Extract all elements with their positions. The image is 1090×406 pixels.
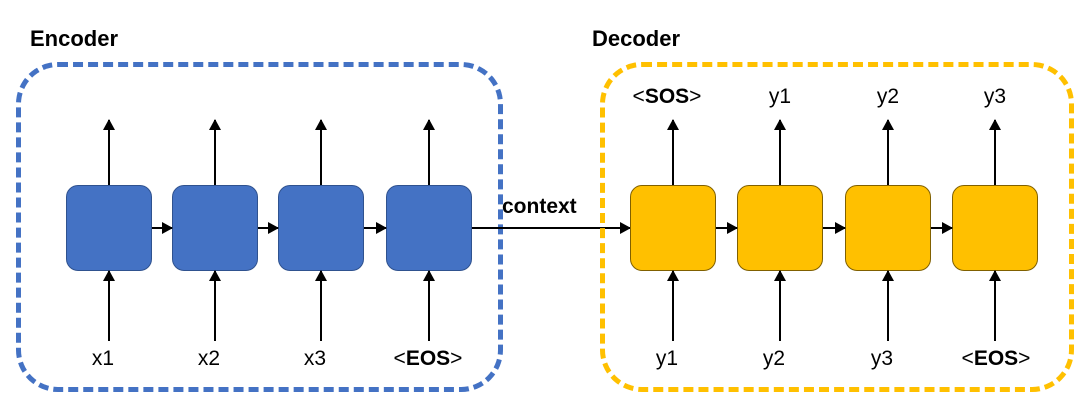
decoder-output-label-4: y3 xyxy=(984,86,1006,107)
decoder-input-label-3: y3 xyxy=(871,348,893,369)
decoder-output-arrow-1 xyxy=(667,120,679,185)
arrow-head-up-icon xyxy=(209,270,221,281)
arrow-shaft xyxy=(108,271,110,341)
arrow-head-right-icon xyxy=(268,222,279,234)
encoder-input-label-4: <EOS> xyxy=(394,348,463,369)
arrow-head-up-icon xyxy=(989,270,1001,281)
decoder-title: Decoder xyxy=(592,28,680,50)
arrow-head-right-icon xyxy=(727,222,738,234)
arrow-head-up-icon xyxy=(209,119,221,130)
encoder-input-arrow-4 xyxy=(423,271,435,341)
arrow-head-up-icon xyxy=(882,119,894,130)
arrow-shaft xyxy=(672,271,674,341)
arrow-head-up-icon xyxy=(989,119,1001,130)
encoder-recurrent-arrow-2-3 xyxy=(258,222,278,234)
arrow-head-up-icon xyxy=(315,270,327,281)
encoder-output-arrow-1 xyxy=(103,120,115,185)
arrow-head-up-icon xyxy=(423,270,435,281)
encoder-input-arrow-3 xyxy=(315,271,327,341)
decoder-cell-4[interactable] xyxy=(952,185,1038,271)
arrow-head-up-icon xyxy=(423,119,435,130)
decoder-cell-1[interactable] xyxy=(630,185,716,271)
encoder-recurrent-arrow-3-4 xyxy=(364,222,386,234)
encoder-input-label-2: x2 xyxy=(198,348,220,369)
decoder-output-label-1: <SOS> xyxy=(633,86,702,107)
arrow-head-up-icon xyxy=(103,270,115,281)
encoder-input-arrow-2 xyxy=(209,271,221,341)
decoder-output-label-2: y1 xyxy=(769,86,791,107)
arrow-head-up-icon xyxy=(315,119,327,130)
arrow-head-up-icon xyxy=(667,119,679,130)
arrow-shaft xyxy=(994,271,996,341)
arrow-head-up-icon xyxy=(774,270,786,281)
arrow-shaft xyxy=(320,271,322,341)
arrow-shaft xyxy=(887,271,889,341)
decoder-recurrent-arrow-3-4 xyxy=(931,222,952,234)
encoder-recurrent-arrow-1-2 xyxy=(152,222,172,234)
encoder-cell-1[interactable] xyxy=(66,185,152,271)
arrow-head-right-icon xyxy=(942,222,953,234)
context-label: context xyxy=(502,196,577,217)
arrow-shaft xyxy=(428,271,430,341)
encoder-output-arrow-4 xyxy=(423,120,435,185)
arrow-head-right-icon xyxy=(162,222,173,234)
decoder-cell-2[interactable] xyxy=(737,185,823,271)
arrow-head-right-icon xyxy=(835,222,846,234)
encoder-title: Encoder xyxy=(30,28,118,50)
encoder-output-arrow-2 xyxy=(209,120,221,185)
decoder-recurrent-arrow-1-2 xyxy=(716,222,737,234)
arrow-head-up-icon xyxy=(103,119,115,130)
arrow-head-up-icon xyxy=(882,270,894,281)
decoder-output-arrow-2 xyxy=(774,120,786,185)
arrow-head-up-icon xyxy=(774,119,786,130)
encoder-cell-3[interactable] xyxy=(278,185,364,271)
decoder-output-arrow-3 xyxy=(882,120,894,185)
decoder-output-label-3: y2 xyxy=(877,86,899,107)
encoder-cell-4[interactable] xyxy=(386,185,472,271)
encoder-input-label-1: x1 xyxy=(92,348,114,369)
encoder-output-arrow-3 xyxy=(315,120,327,185)
decoder-input-arrow-1 xyxy=(667,271,679,341)
arrow-shaft xyxy=(779,271,781,341)
encoder-input-label-3: x3 xyxy=(304,348,326,369)
decoder-input-arrow-3 xyxy=(882,271,894,341)
diagram-canvas: Encoder xyxy=(0,0,1090,406)
decoder-input-label-4: <EOS> xyxy=(962,348,1031,369)
decoder-recurrent-arrow-2-3 xyxy=(823,222,845,234)
arrow-head-up-icon xyxy=(667,270,679,281)
encoder-cell-2[interactable] xyxy=(172,185,258,271)
decoder-input-arrow-2 xyxy=(774,271,786,341)
arrow-head-right-icon xyxy=(376,222,387,234)
decoder-input-label-2: y2 xyxy=(763,348,785,369)
decoder-input-label-1: y1 xyxy=(656,348,678,369)
decoder-input-arrow-4 xyxy=(989,271,1001,341)
decoder-output-arrow-4 xyxy=(989,120,1001,185)
decoder-cell-3[interactable] xyxy=(845,185,931,271)
arrow-shaft xyxy=(214,271,216,341)
encoder-input-arrow-1 xyxy=(103,271,115,341)
